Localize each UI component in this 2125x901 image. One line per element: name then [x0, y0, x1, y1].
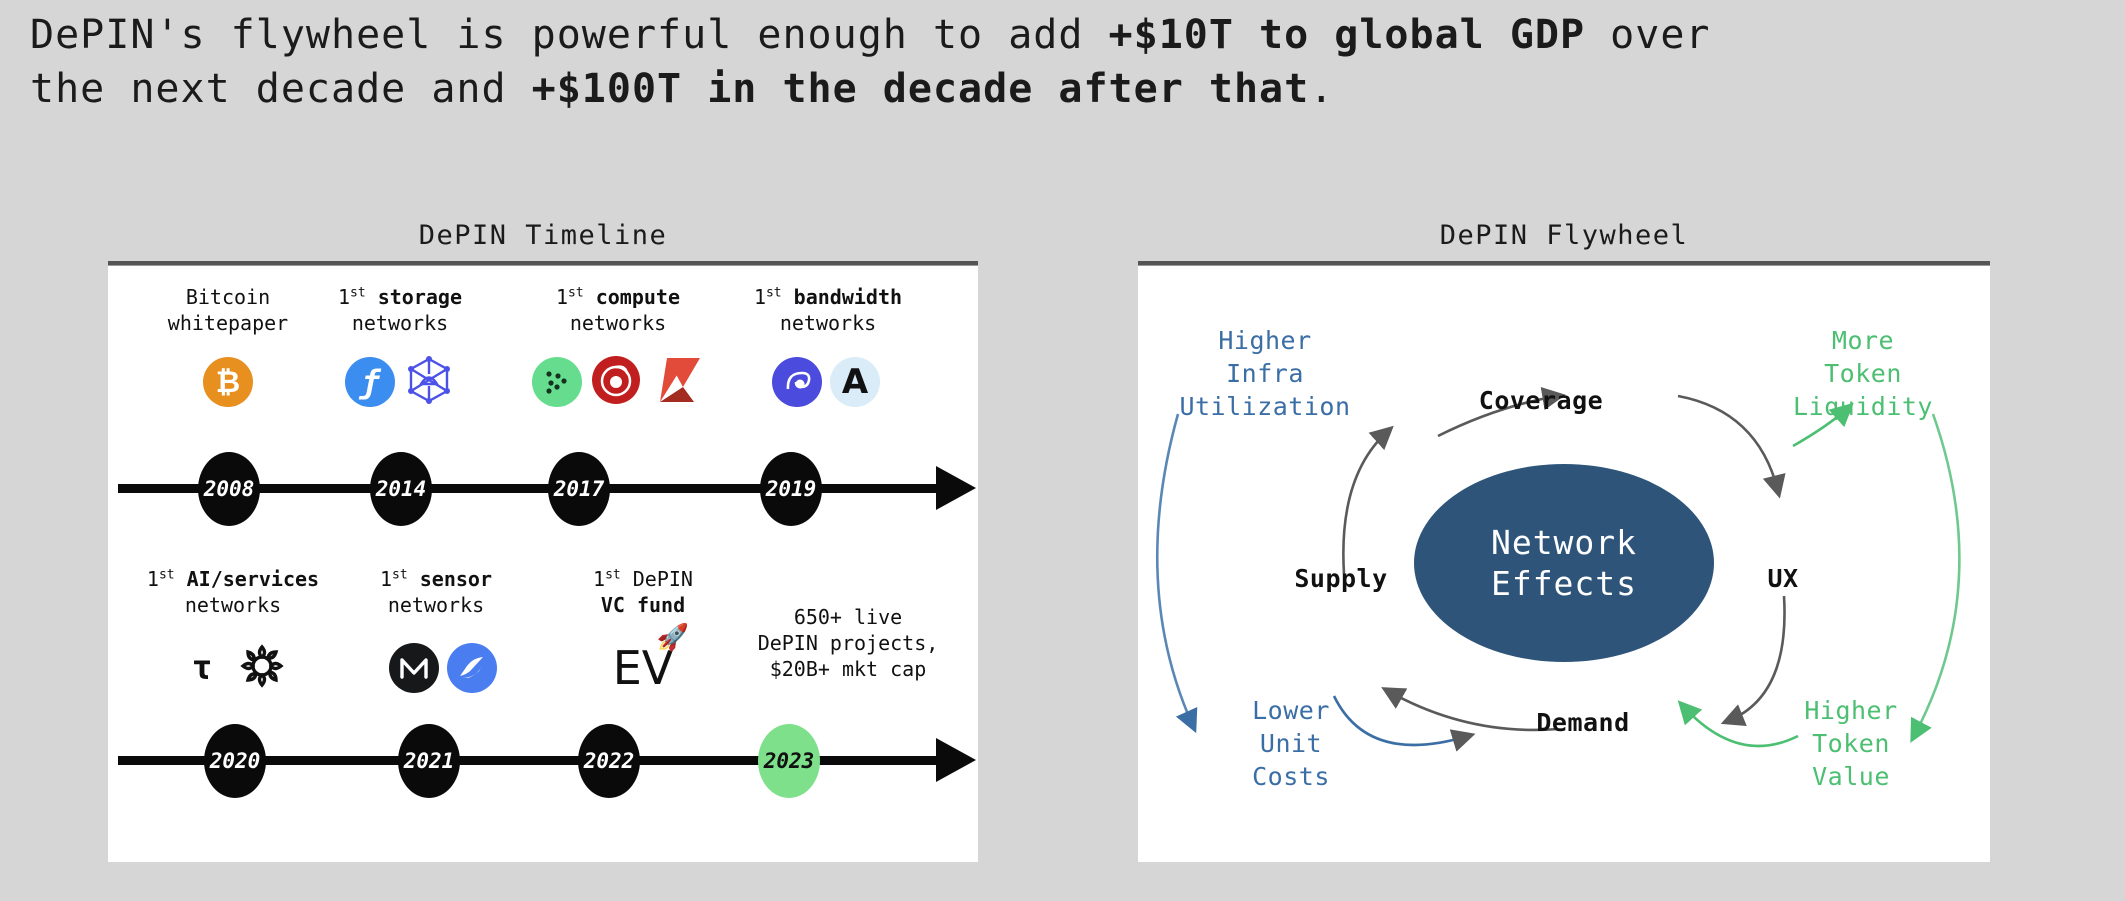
timeline-icons-2021: [348, 638, 538, 698]
timeline-label-ai-services: 1st AI/services networks: [108, 566, 358, 618]
headline-emphasis-100t: +$100T in the decade after that: [532, 66, 1310, 112]
depin-timeline-panel: DePIN Timeline Bitcoin whitepaper 1st st…: [108, 220, 978, 862]
helium-icon: [772, 357, 822, 407]
timeline-node-2020[interactable]: 2020: [204, 724, 266, 798]
flywheel-node-ux[interactable]: UX: [1708, 562, 1858, 595]
timeline-arrow-bottom: [936, 738, 976, 782]
timeline-node-2023[interactable]: 2023: [758, 724, 820, 798]
timeline-icons-2020: τ: [108, 638, 358, 698]
timeline-label-2023-stats: 650+ live DePIN projects, $20B+ mkt cap: [728, 604, 968, 682]
depin-flywheel-panel: DePIN Flywheel: [1138, 220, 1990, 862]
timeline-node-2017[interactable]: 2017: [548, 452, 610, 526]
timeline-icons-2014: ƒ: [300, 354, 500, 410]
timeline-axis-bottom-row: 2020 2021 2022 2023: [108, 716, 978, 806]
flywheel-node-supply[interactable]: Supply: [1246, 562, 1436, 595]
headline-emphasis-10t: +$10T to global GDP: [1109, 12, 1586, 58]
timeline-axis-top-row: 2008 2014 2017 2019: [108, 444, 978, 534]
mapbox-icon: [389, 643, 439, 693]
flywheel-node-higher-token-value[interactable]: HigherTokenValue: [1746, 694, 1956, 793]
hivemapper-icon: [447, 643, 497, 693]
timeline-icons-2017: [508, 354, 728, 410]
timeline-label-bandwidth: 1st bandwidth networks: [713, 284, 943, 336]
flywheel-node-coverage[interactable]: Coverage: [1436, 384, 1646, 417]
page-headline: DePIN's flywheel is powerful enough to a…: [30, 8, 2100, 116]
flywheel-node-lower-unit-costs[interactable]: LowerUnitCosts: [1196, 694, 1386, 793]
timeline-title: DePIN Timeline: [108, 220, 978, 251]
gear-sun-icon: [235, 639, 289, 697]
akash-icon: [650, 355, 704, 409]
flywheel-node-more-token-liquidity[interactable]: MoreTokenLiquidity: [1758, 324, 1968, 423]
headline-line2-part3: .: [1309, 66, 1334, 112]
timeline-label-compute: 1st compute networks: [518, 284, 718, 336]
flywheel-card: Network Effects HigherInfraUtilization C…: [1138, 266, 1990, 862]
headline-line2-part1: the next decade and: [30, 66, 532, 112]
render-icon: [532, 357, 582, 407]
timeline-icons-2008: ₿: [138, 354, 318, 410]
bitcoin-icon: ₿: [203, 357, 253, 407]
timeline-arrow-top: [936, 466, 976, 510]
flywheel-title: DePIN Flywheel: [1138, 220, 1990, 251]
timeline-label-storage: 1st storage networks: [300, 284, 500, 336]
flywheel-center-network-effects: Network Effects: [1414, 464, 1714, 662]
timeline-label-sensor: 1st sensor networks: [336, 566, 536, 618]
timeline-node-2014[interactable]: 2014: [370, 452, 432, 526]
timeline-label-bitcoin: Bitcoin whitepaper: [138, 284, 318, 336]
headline-line1-part3: over: [1585, 12, 1710, 58]
timeline-node-2008[interactable]: 2008: [198, 452, 260, 526]
timeline-node-2019[interactable]: 2019: [760, 452, 822, 526]
escape-velocity-icon: EV 🚀: [613, 641, 674, 695]
timeline-label-vc-fund: 1st DePIN VC fund: [548, 566, 738, 618]
timeline-node-2022[interactable]: 2022: [578, 724, 640, 798]
timeline-icons-2022: EV 🚀: [558, 638, 728, 698]
storj-icon: [403, 354, 455, 410]
filecoin-icon: ƒ: [345, 357, 395, 407]
timeline-icons-2019: A: [726, 354, 926, 410]
akash-ring-icon: [590, 354, 642, 410]
arweave-icon: A: [830, 357, 880, 407]
timeline-card: Bitcoin whitepaper 1st storage networks …: [108, 266, 978, 862]
flywheel-node-higher-infra-utilization[interactable]: HigherInfraUtilization: [1160, 324, 1370, 423]
headline-line1-part1: DePIN's flywheel is powerful enough to a…: [30, 12, 1109, 58]
timeline-node-2021[interactable]: 2021: [398, 724, 460, 798]
flywheel-node-demand[interactable]: Demand: [1478, 706, 1688, 739]
bittensor-icon: τ: [177, 643, 227, 693]
